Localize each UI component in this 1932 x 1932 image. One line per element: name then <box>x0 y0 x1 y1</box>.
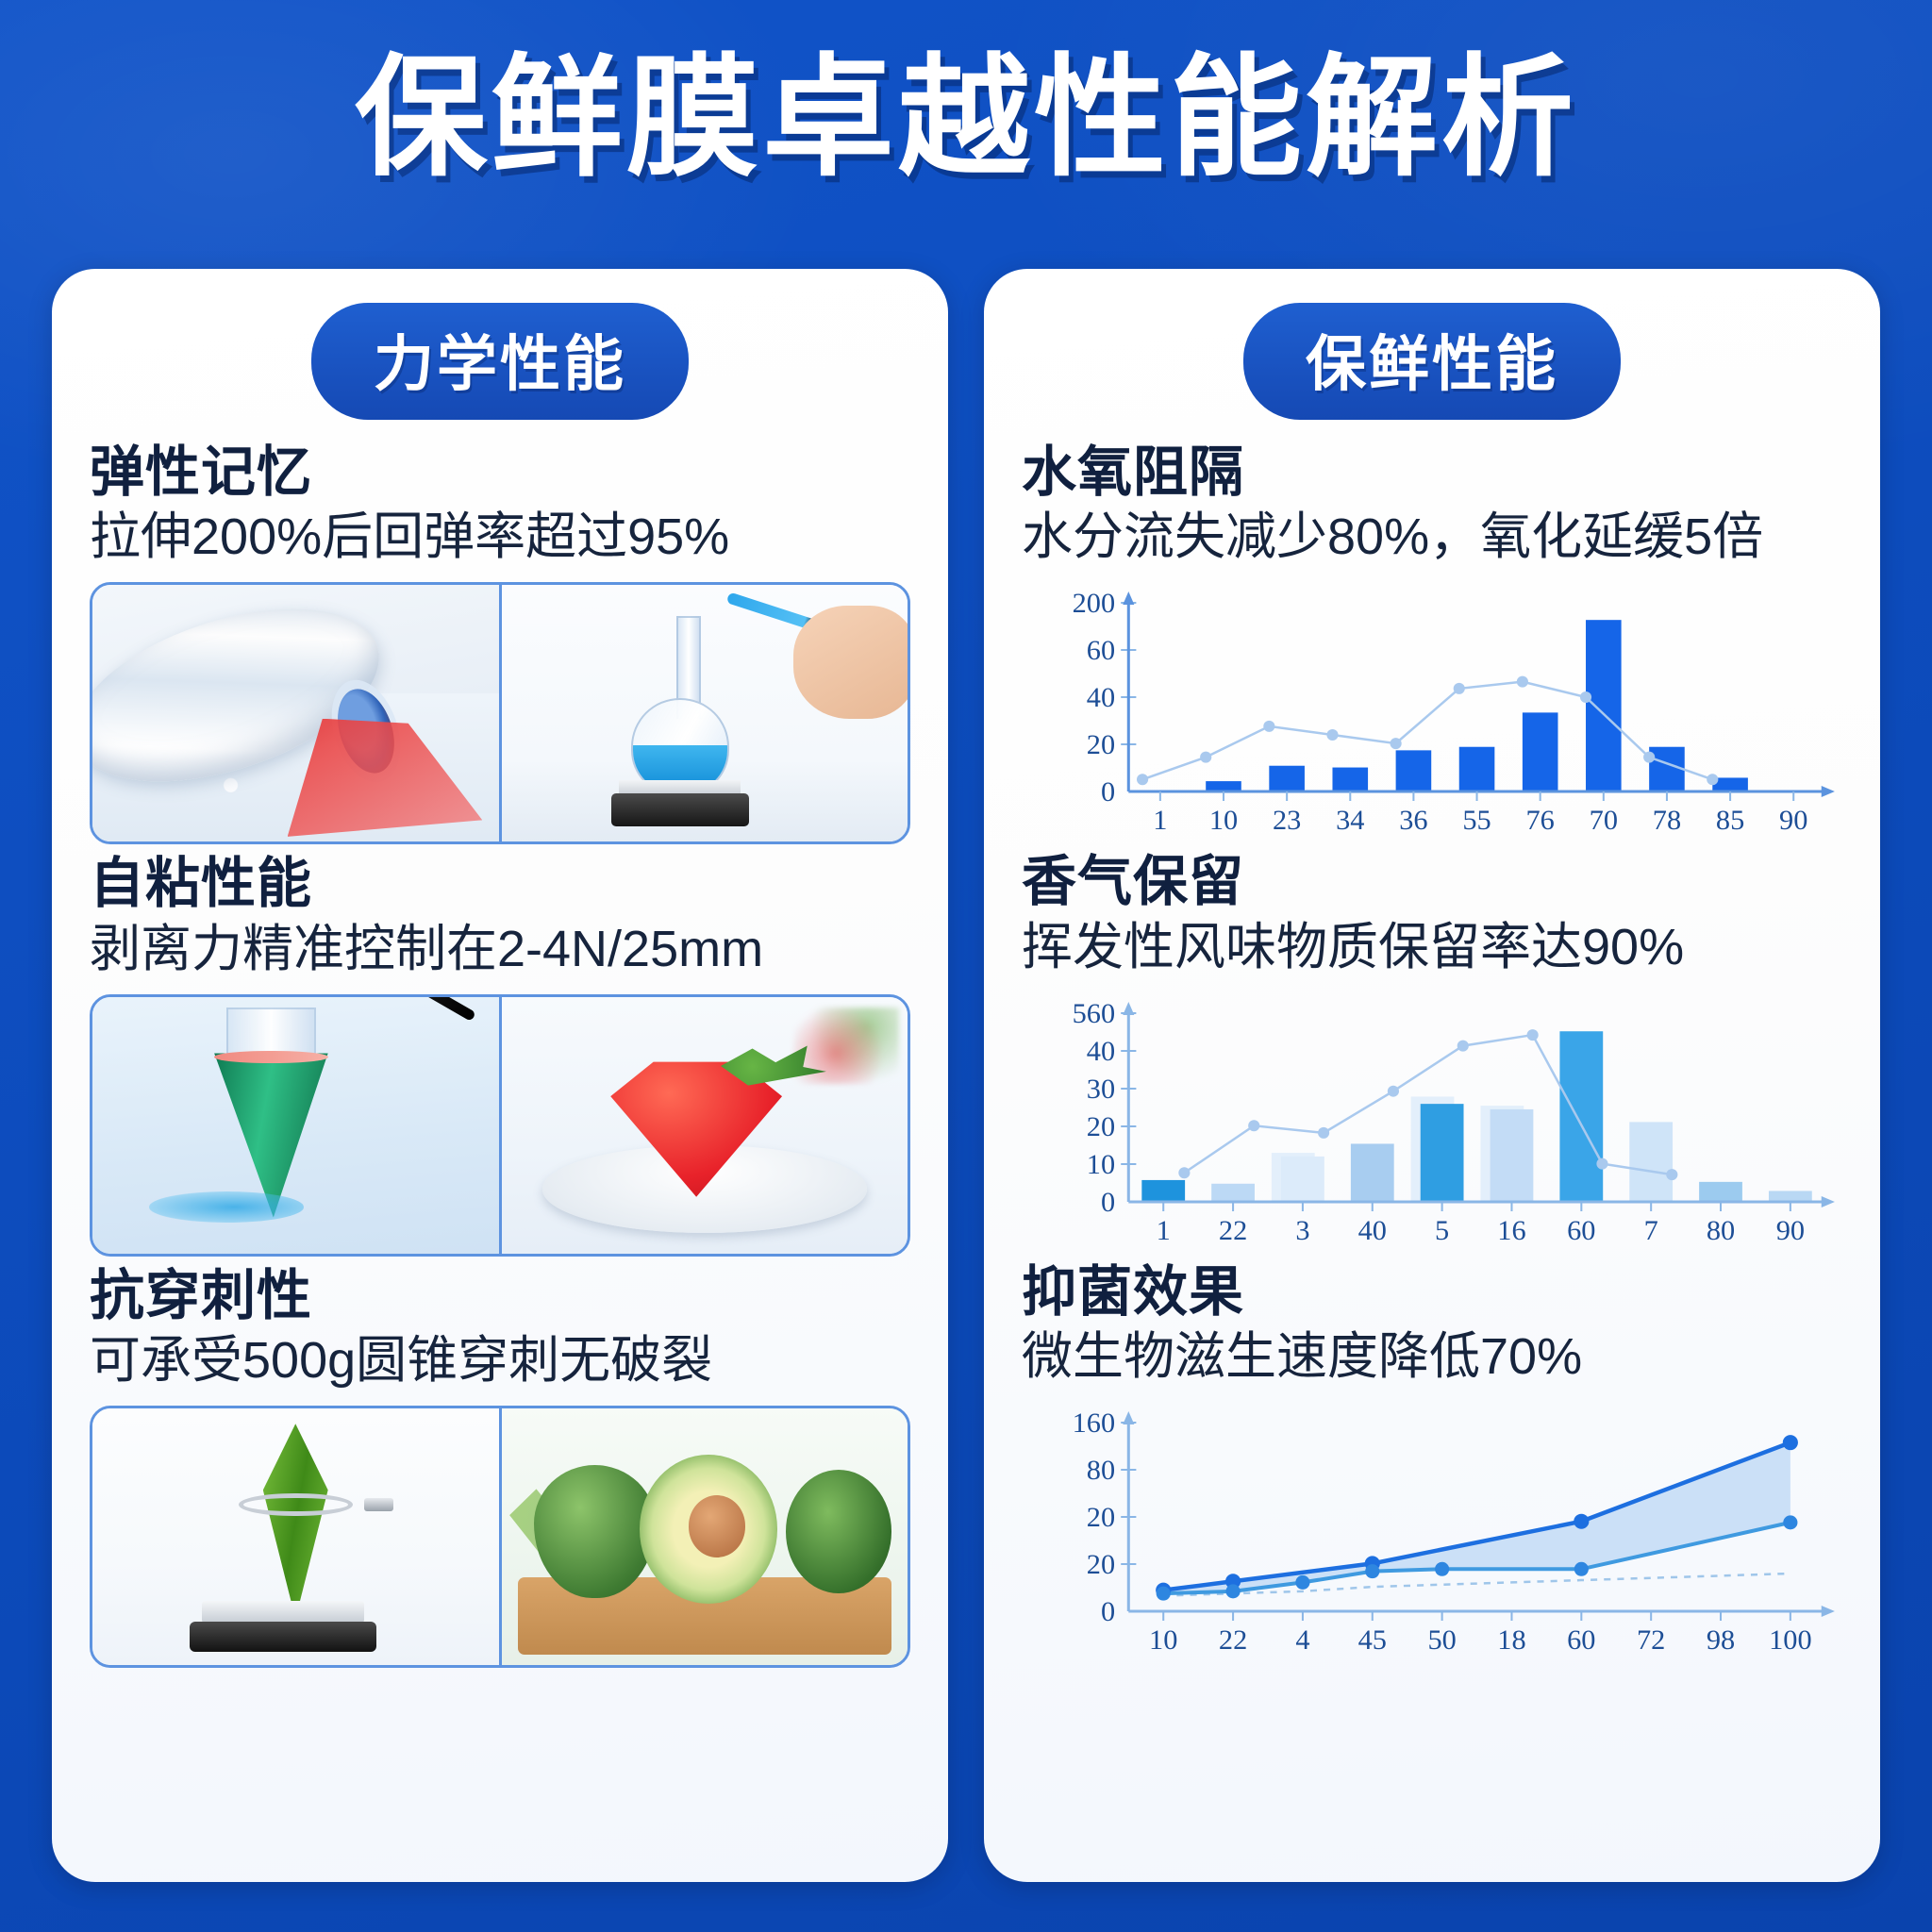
data-point <box>1574 1562 1589 1576</box>
section-title: 抗穿刺性 <box>90 1264 910 1328</box>
panel-preservation-performance: 保鲜性能 水氧阻隔 水分流失减少80%，氧化延缓5倍 0204060200 11… <box>984 269 1880 1882</box>
chart-water-oxygen-barrier: 0204060200 110233436557670788590 <box>1022 582 1842 842</box>
y-tick-label: 0 <box>1101 775 1115 808</box>
chart-2-x-labels: 1223405166078090 <box>1157 1202 1805 1246</box>
section-aroma-retention: 香气保留 挥发性风味物质保留率达90% 010203040560 1223405… <box>1022 850 1842 1252</box>
section-subtitle: 可承受500g圆锥穿刺无破裂 <box>90 1330 910 1392</box>
bar <box>1459 747 1495 791</box>
x-tick-label: 7 <box>1644 1214 1658 1246</box>
panel-mechanical-performance: 力学性能 弹性记忆 拉伸200%后回弹率超过95% <box>52 269 948 1882</box>
chart-1-svg: 0204060200 110233436557670788590 <box>1022 582 1842 842</box>
x-tick-label: 1 <box>1153 804 1167 836</box>
trend-point <box>1137 774 1148 786</box>
chart-2-y-ticks: 010203040560 <box>1073 997 1137 1218</box>
chart-1-y-axis-arrow <box>1123 591 1134 605</box>
trend-point <box>1326 729 1338 741</box>
trend-point <box>1200 752 1211 763</box>
image-pair-elastic <box>90 582 910 844</box>
chart-3-x-labels: 10224455018607298100 <box>1149 1611 1812 1656</box>
data-point <box>1295 1575 1309 1590</box>
bar <box>1629 1122 1673 1202</box>
x-tick-label: 60 <box>1567 1624 1595 1656</box>
bar <box>1332 768 1368 791</box>
whole-avocado-shape-2 <box>786 1470 891 1593</box>
x-tick-label: 3 <box>1295 1214 1309 1246</box>
strawberry-image <box>499 997 908 1254</box>
x-tick-label: 50 <box>1427 1624 1456 1656</box>
chart-3-svg: 0202080160 10224455018607298100 <box>1022 1402 1842 1662</box>
data-point <box>1574 1514 1589 1529</box>
x-tick-label: 4 <box>1295 1624 1309 1656</box>
x-tick-label: 10 <box>1149 1624 1177 1656</box>
left-panel-pill-label: 力学性能 <box>311 303 689 420</box>
bar <box>1769 1191 1812 1202</box>
bar <box>1211 1183 1255 1201</box>
y-tick-label: 40 <box>1087 681 1115 713</box>
section-title: 抑菌效果 <box>1022 1260 1842 1324</box>
y-tick-label: 0 <box>1101 1595 1115 1627</box>
chart-2-bars <box>1141 1031 1811 1202</box>
trend-point <box>1707 774 1718 786</box>
section-water-oxygen-barrier: 水氧阻隔 水分流失减少80%，氧化延缓5倍 0204060200 1102334… <box>1022 441 1842 842</box>
x-tick-label: 85 <box>1716 804 1744 836</box>
data-point <box>1435 1562 1449 1576</box>
bar <box>1649 747 1685 791</box>
hand-shape <box>793 606 908 719</box>
chart-3-y-axis-arrow <box>1123 1411 1134 1424</box>
section-subtitle: 拉伸200%后回弹率超过95% <box>90 507 910 569</box>
y-tick-label: 60 <box>1087 634 1115 666</box>
right-panel-pill-wrap: 保鲜性能 <box>1022 303 1842 420</box>
flask-image <box>499 585 908 841</box>
bar <box>1699 1181 1742 1201</box>
trend-point <box>1527 1029 1539 1041</box>
flask-base-shape <box>611 793 749 826</box>
x-tick-label: 90 <box>1776 1214 1805 1246</box>
pipette-icon <box>317 997 477 1023</box>
x-tick-label: 1 <box>1157 1214 1171 1246</box>
section-subtitle: 剥离力精准控制在2-4N/25mm <box>90 919 910 981</box>
chart-2-x-axis-arrow <box>1822 1196 1835 1207</box>
data-point <box>1783 1435 1798 1450</box>
section-title: 弹性记忆 <box>90 441 910 505</box>
x-tick-label: 22 <box>1219 1214 1247 1246</box>
clamp-ring-shape <box>239 1493 353 1516</box>
bar <box>1281 1157 1324 1202</box>
y-tick-label: 30 <box>1087 1073 1115 1105</box>
data-point <box>1365 1564 1379 1578</box>
y-tick-label: 20 <box>1087 1548 1115 1580</box>
section-subtitle: 挥发性风味物质保留率达90% <box>1022 917 1842 979</box>
panels-container: 力学性能 弹性记忆 拉伸200%后回弹率超过95% <box>52 269 1880 1882</box>
x-tick-label: 36 <box>1399 804 1427 836</box>
trend-point <box>1248 1120 1259 1131</box>
section-elastic-memory: 弹性记忆 拉伸200%后回弹率超过95% <box>90 441 910 844</box>
y-tick-label: 20 <box>1087 728 1115 760</box>
trend-point <box>1666 1169 1677 1180</box>
section-title: 水氧阻隔 <box>1022 441 1842 505</box>
x-tick-label: 34 <box>1336 804 1364 836</box>
x-tick-label: 22 <box>1219 1624 1247 1656</box>
x-tick-label: 16 <box>1497 1214 1525 1246</box>
trend-point <box>1391 738 1402 749</box>
chart-2-y-axis-arrow <box>1123 1002 1134 1015</box>
x-tick-label: 78 <box>1653 804 1681 836</box>
x-tick-label: 23 <box>1273 804 1301 836</box>
chart-aroma-retention: 010203040560 1223405166078090 <box>1022 992 1842 1253</box>
scale-base-shape <box>190 1622 376 1653</box>
trend-point <box>1178 1167 1190 1178</box>
avocado-image <box>499 1408 908 1665</box>
y-tick-label: 560 <box>1073 997 1115 1029</box>
bar <box>1523 713 1558 792</box>
bar <box>1491 1109 1534 1202</box>
section-subtitle: 微生物滋生速度降低70% <box>1022 1326 1842 1389</box>
y-tick-label: 0 <box>1101 1186 1115 1218</box>
avocado-pit-shape <box>689 1495 745 1557</box>
y-tick-label: 20 <box>1087 1501 1115 1533</box>
trend-point <box>1388 1085 1399 1096</box>
trend-point <box>1318 1127 1329 1139</box>
x-tick-label: 40 <box>1358 1214 1387 1246</box>
conical-probe-shape <box>263 1424 328 1619</box>
trend-point <box>1517 676 1528 688</box>
clamp-knob-shape <box>364 1498 392 1511</box>
section-antibacterial-effect: 抑菌效果 微生物滋生速度降低70% 0202080160 10224455018… <box>1022 1260 1842 1662</box>
y-tick-label: 160 <box>1073 1407 1115 1439</box>
trend-point <box>1580 691 1591 703</box>
x-tick-label: 76 <box>1526 804 1555 836</box>
x-tick-label: 10 <box>1209 804 1238 836</box>
image-pair-puncture <box>90 1406 910 1668</box>
section-title: 香气保留 <box>1022 850 1842 914</box>
x-tick-label: 18 <box>1497 1624 1525 1656</box>
trend-point <box>1643 752 1655 763</box>
bar <box>1351 1143 1394 1202</box>
chart-1-bars <box>1206 620 1748 791</box>
chart-3-x-axis-arrow <box>1822 1606 1835 1617</box>
bar <box>1206 781 1241 791</box>
y-tick-label: 80 <box>1087 1454 1115 1486</box>
bar <box>1421 1104 1464 1202</box>
chart-1-x-labels: 110233436557670788590 <box>1153 791 1807 836</box>
left-panel-pill-wrap: 力学性能 <box>90 303 910 420</box>
chart-antibacterial-effect: 0202080160 10224455018607298100 <box>1022 1402 1842 1662</box>
section-title: 自粘性能 <box>90 852 910 916</box>
page-title: 保鲜膜卓越性能解析 <box>0 45 1932 191</box>
y-tick-label: 40 <box>1087 1035 1115 1067</box>
x-tick-label: 80 <box>1707 1214 1735 1246</box>
x-tick-label: 98 <box>1707 1624 1735 1656</box>
section-puncture-resistance: 抗穿刺性 可承受500g圆锥穿刺无破裂 <box>90 1264 910 1668</box>
bar <box>1141 1180 1185 1202</box>
x-tick-label: 70 <box>1590 804 1618 836</box>
x-tick-label: 45 <box>1358 1624 1387 1656</box>
bar <box>1396 751 1432 792</box>
scale-plate-shape <box>202 1601 364 1624</box>
bar <box>1269 766 1305 791</box>
bar <box>1586 620 1622 791</box>
chart-1-x-axis-arrow <box>1822 786 1835 797</box>
x-tick-label: 72 <box>1637 1624 1665 1656</box>
trend-point <box>1596 1158 1607 1169</box>
liquid-puddle-shape <box>149 1191 304 1223</box>
data-point <box>1157 1587 1171 1601</box>
film-roll-image <box>92 585 499 841</box>
probe-scale-image <box>92 1408 499 1665</box>
y-tick-label: 200 <box>1073 587 1115 619</box>
y-tick-label: 20 <box>1087 1110 1115 1142</box>
y-tick-label: 10 <box>1087 1148 1115 1180</box>
bar <box>1559 1031 1603 1202</box>
chart-1-y-ticks: 0204060200 <box>1073 587 1137 808</box>
right-panel-pill-label: 保鲜性能 <box>1243 303 1621 420</box>
chart-3-y-ticks: 0202080160 <box>1073 1407 1137 1627</box>
x-tick-label: 5 <box>1435 1214 1449 1246</box>
trend-point <box>1263 721 1274 732</box>
x-tick-label: 90 <box>1779 804 1807 836</box>
cone-dropper-image <box>92 997 499 1254</box>
trend-point <box>1457 1040 1469 1051</box>
section-self-adhesion: 自粘性能 剥离力精准控制在2-4N/25mm <box>90 852 910 1256</box>
x-tick-label: 100 <box>1769 1624 1811 1656</box>
data-point <box>1225 1584 1240 1598</box>
section-subtitle: 水分流失减少80%，氧化延缓5倍 <box>1022 507 1842 569</box>
data-point <box>1783 1515 1797 1529</box>
x-tick-label: 60 <box>1567 1214 1595 1246</box>
image-pair-adhesion <box>90 994 910 1257</box>
x-tick-label: 55 <box>1462 804 1491 836</box>
chart-2-svg: 010203040560 1223405166078090 <box>1022 992 1842 1253</box>
trend-point <box>1454 683 1465 694</box>
